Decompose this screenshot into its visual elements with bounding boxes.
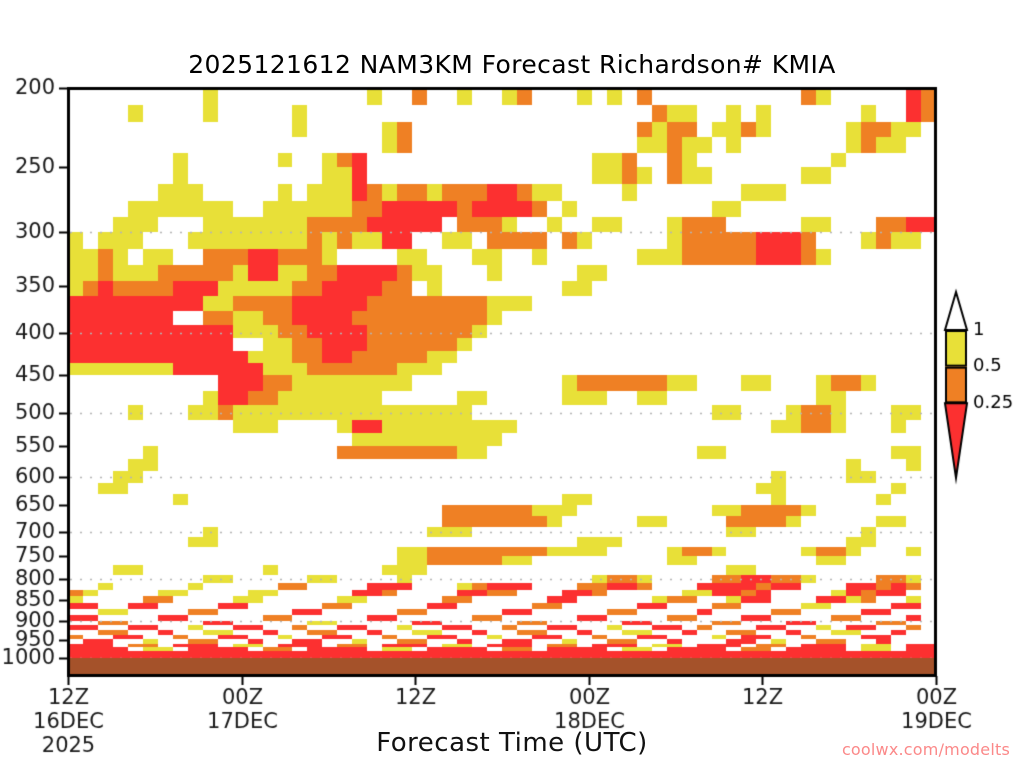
sounding-timeseries-plot (0, 0, 1024, 768)
watermark-link: coolwx.com/modelts (842, 740, 1010, 759)
chart-page: 2025121612 NAM3KM Forecast Richardson# K… (0, 0, 1024, 768)
